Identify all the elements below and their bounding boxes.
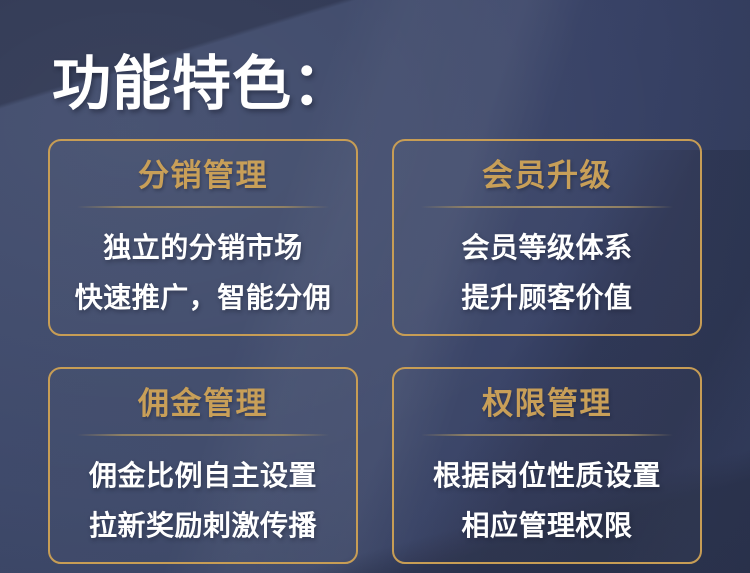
page-title: 功能特色： (52, 52, 352, 117)
card-body: 会员等级体系 提升顾客价值 (461, 223, 632, 323)
card-body: 根据岗位性质设置 相应管理权限 (433, 451, 661, 551)
card-body-line: 根据岗位性质设置 (433, 451, 661, 501)
card-body-line: 独立的分销市场 (75, 223, 332, 273)
card-body-line: 提升顾客价值 (461, 273, 632, 323)
card-title: 分销管理 (138, 157, 268, 196)
card-divider (77, 434, 329, 436)
feature-card-grid: 分销管理 独立的分销市场 快速推广，智能分佣 会员升级 会员等级体系 提升顾客价… (48, 139, 702, 564)
card-divider (421, 206, 673, 208)
card-title: 佣金管理 (138, 385, 268, 424)
card-body: 佣金比例自主设置 拉新奖励刺激传播 (89, 451, 317, 551)
card-body: 独立的分销市场 快速推广，智能分佣 (75, 223, 332, 323)
card-body-line: 佣金比例自主设置 (89, 451, 317, 501)
feature-card-commission-management[interactable]: 佣金管理 佣金比例自主设置 拉新奖励刺激传播 (48, 367, 358, 564)
card-body-line: 会员等级体系 (461, 223, 632, 273)
feature-card-member-upgrade[interactable]: 会员升级 会员等级体系 提升顾客价值 (392, 139, 702, 336)
card-body-line: 相应管理权限 (433, 501, 661, 551)
feature-highlights-poster: 功能特色： 分销管理 独立的分销市场 快速推广，智能分佣 会员升级 会员等级体系… (0, 0, 750, 573)
card-divider (77, 206, 329, 208)
card-body-line: 快速推广，智能分佣 (75, 273, 332, 323)
feature-card-distribution-management[interactable]: 分销管理 独立的分销市场 快速推广，智能分佣 (48, 139, 358, 336)
card-title: 会员升级 (482, 157, 612, 196)
card-title: 权限管理 (482, 385, 612, 424)
card-body-line: 拉新奖励刺激传播 (89, 501, 317, 551)
feature-card-permission-management[interactable]: 权限管理 根据岗位性质设置 相应管理权限 (392, 367, 702, 564)
card-divider (421, 434, 673, 436)
